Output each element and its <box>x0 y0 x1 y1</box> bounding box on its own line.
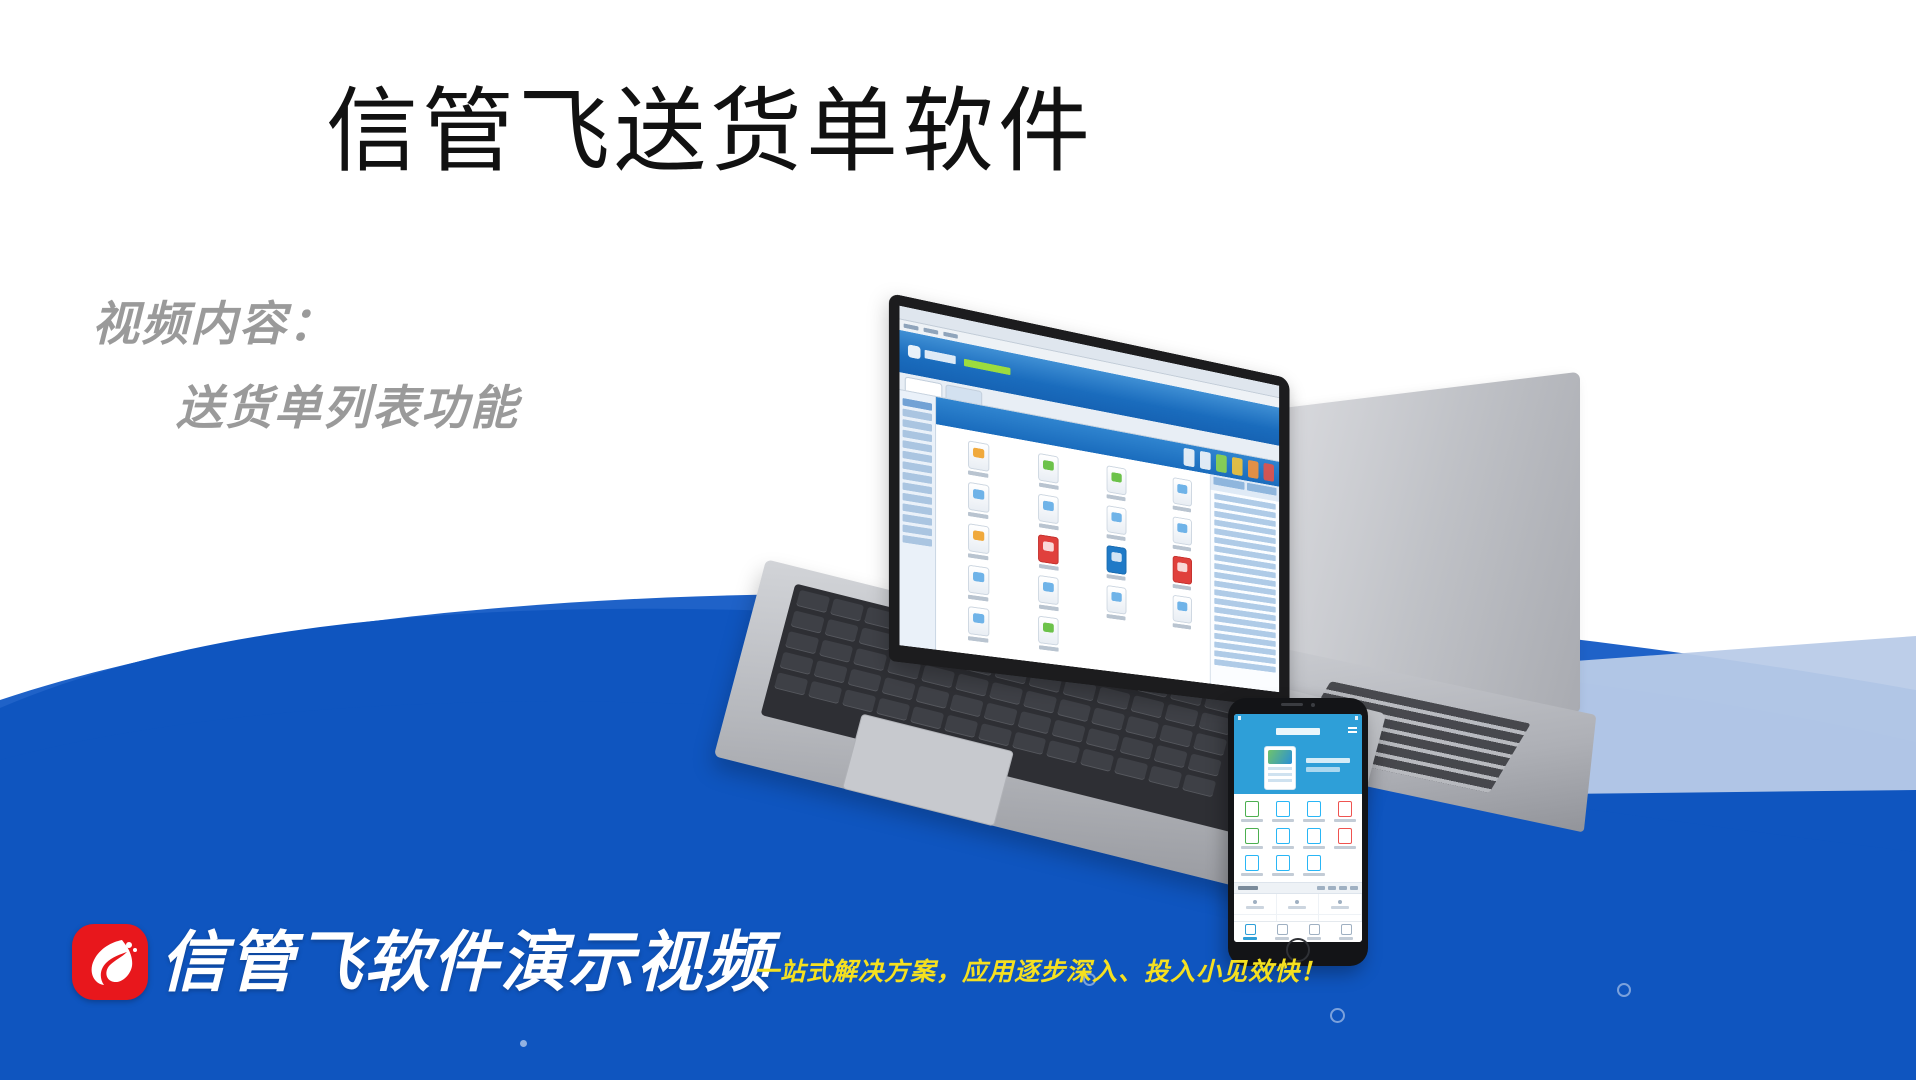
app-edition-text <box>964 359 1010 375</box>
device-mockup-group <box>880 380 1916 940</box>
sidebar-item[interactable] <box>903 503 932 515</box>
decor-dot <box>1617 983 1631 997</box>
hero-phone-illustration <box>1264 746 1296 790</box>
mobile-module-item[interactable] <box>1236 801 1267 822</box>
module-icon[interactable] <box>1016 572 1081 615</box>
module-icon[interactable] <box>1151 592 1212 633</box>
section-filters[interactable] <box>1317 886 1358 890</box>
module-icon[interactable] <box>1016 490 1081 534</box>
module-icon[interactable] <box>1085 501 1148 544</box>
mobile-module-item[interactable] <box>1329 828 1360 849</box>
module-icon[interactable] <box>1085 582 1148 624</box>
toolbar-button[interactable] <box>1200 451 1211 470</box>
slide-canvas: 信管飞送货单软件 视频内容： 送货单列表功能 <box>0 0 1916 1080</box>
nav-item-home[interactable] <box>1234 922 1266 942</box>
toolbar-button[interactable] <box>1232 457 1243 476</box>
brand-name: 信管飞软件演示视频 <box>160 920 772 1004</box>
stat-cell[interactable] <box>1234 894 1277 915</box>
module-icon[interactable] <box>944 436 1012 482</box>
module-icon[interactable] <box>944 561 1012 605</box>
mobile-module-item[interactable] <box>1329 801 1360 822</box>
stat-cell[interactable] <box>1319 894 1362 915</box>
front-laptop-lid <box>889 293 1290 709</box>
module-icon[interactable] <box>1016 449 1081 494</box>
module-icon[interactable] <box>1151 552 1212 594</box>
mobile-module-item[interactable] <box>1298 801 1329 822</box>
mobile-module-item[interactable] <box>1236 855 1267 876</box>
status-left-icon <box>1238 716 1241 720</box>
nav-item-profile[interactable] <box>1330 922 1362 942</box>
mobile-module-item[interactable] <box>1236 828 1267 849</box>
module-icon[interactable] <box>1016 613 1081 655</box>
app-logo-icon <box>908 344 921 359</box>
status-right-icon <box>1355 716 1358 720</box>
module-icon[interactable] <box>944 478 1012 523</box>
sidebar-item[interactable] <box>903 514 932 526</box>
menu-item[interactable] <box>924 328 939 335</box>
mobile-module-item[interactable] <box>1267 801 1298 822</box>
module-icon[interactable] <box>1085 542 1148 584</box>
module-icon[interactable] <box>1151 513 1212 555</box>
hero-text-line <box>1306 767 1340 772</box>
video-content-topic: 送货单列表功能 <box>92 366 519 450</box>
mobile-hero-banner <box>1234 740 1362 794</box>
sidebar-item[interactable] <box>903 524 932 536</box>
phone-status-bar <box>1234 714 1362 722</box>
menu-item[interactable] <box>904 323 919 330</box>
toolbar-button[interactable] <box>1264 463 1274 482</box>
phone-speaker <box>1281 703 1303 706</box>
module-icon[interactable] <box>944 603 1012 646</box>
stat-cell[interactable] <box>1277 894 1320 915</box>
page-title: 信管飞送货单软件 <box>0 78 1420 186</box>
mobile-module-grid <box>1234 794 1362 882</box>
mobile-module-item[interactable] <box>1298 855 1329 876</box>
mobile-module-spacer <box>1329 855 1360 876</box>
mobile-module-item[interactable] <box>1298 828 1329 849</box>
mobile-app-header <box>1234 722 1362 740</box>
mobile-app-screen <box>1234 714 1362 942</box>
toolbar-button[interactable] <box>1216 454 1227 473</box>
desktop-app-screen <box>899 306 1279 692</box>
hamburger-menu-icon[interactable] <box>1348 727 1357 735</box>
brand-logo <box>72 924 148 1000</box>
toolbar-button[interactable] <box>1248 460 1258 479</box>
app-sidebar <box>899 390 936 652</box>
hero-text-line <box>1306 758 1350 763</box>
mobile-section-header <box>1234 882 1362 894</box>
hero-calendar <box>1268 767 1292 785</box>
toolbar-button[interactable] <box>1184 448 1195 468</box>
decor-dot <box>1330 1008 1345 1023</box>
sidebar-item[interactable] <box>903 535 932 547</box>
video-content-block: 视频内容： 送货单列表功能 <box>92 282 519 450</box>
mobile-module-item[interactable] <box>1267 828 1298 849</box>
section-title <box>1238 886 1258 890</box>
mobile-module-item[interactable] <box>1267 855 1298 876</box>
module-icon[interactable] <box>944 519 1012 563</box>
app-right-panel <box>1210 474 1279 692</box>
phone-earpiece-area <box>1228 698 1368 711</box>
decor-dot <box>520 1040 527 1047</box>
module-icon[interactable] <box>1151 473 1212 516</box>
phone-camera-icon <box>1311 703 1315 707</box>
module-icon[interactable] <box>1016 531 1081 574</box>
fei-bird-logo-icon <box>72 924 148 1000</box>
mobile-app-title <box>1276 728 1320 735</box>
hero-image <box>1268 750 1292 764</box>
module-icon[interactable] <box>1085 461 1148 505</box>
video-content-label: 视频内容： <box>92 282 519 366</box>
mobile-phone-mockup <box>1228 698 1368 966</box>
menu-item[interactable] <box>943 332 957 339</box>
brand-tagline: 一站式解决方案，应用逐步深入、投入小见效快！ <box>754 955 1326 989</box>
app-brand-text <box>925 350 956 365</box>
